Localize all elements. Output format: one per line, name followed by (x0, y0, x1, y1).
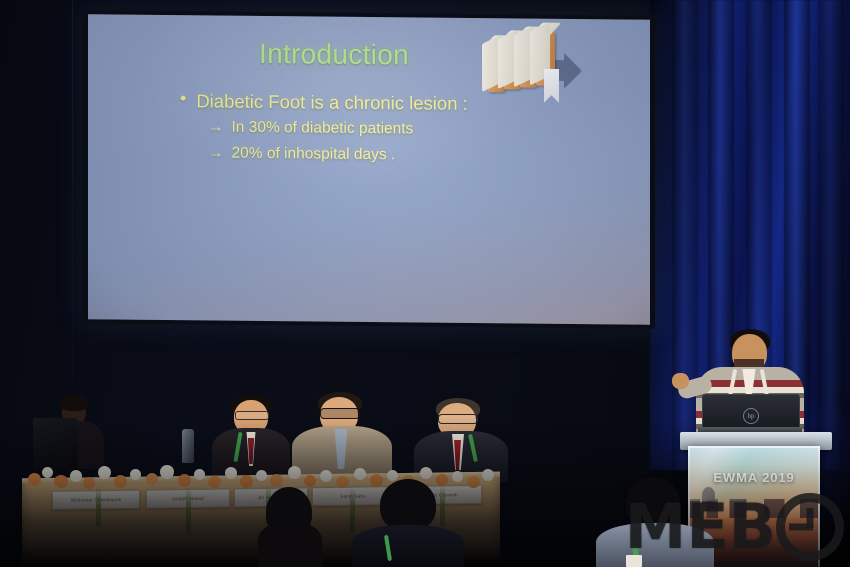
conference-photo: Introduction (0, 0, 850, 567)
bookmark-icon (544, 69, 559, 103)
watermark-b: B (729, 502, 774, 553)
laptop: hp (698, 394, 802, 436)
projection-screen-frame: Introduction (83, 10, 655, 328)
arrow-icon: → (208, 144, 224, 165)
slide-body: • Diabetic Foot is a chronic lesion : → … (180, 89, 468, 167)
watermark-e: E (686, 502, 726, 553)
projection-screen: Introduction (88, 14, 650, 324)
books-icon (486, 24, 578, 109)
bullet-item: • Diabetic Foot is a chronic lesion : (180, 89, 468, 115)
audience-hair (258, 523, 322, 567)
bullet-text: 20% of inhospital days . (232, 144, 396, 166)
bullet-marker-icon: • (180, 89, 186, 109)
mebo-watermark: M E B (625, 493, 844, 561)
hp-logo-icon: hp (743, 408, 759, 424)
bullet-text: Diabetic Foot is a chronic lesion : (196, 89, 467, 115)
bullet-item: → In 30% of diabetic patients (208, 118, 468, 141)
watermark-o-icon (776, 493, 844, 561)
arrow-icon: → (208, 118, 224, 139)
laptop-lid: hp (702, 394, 800, 430)
gesturing-hand (672, 373, 689, 389)
bullet-text: In 30% of diabetic patients (232, 118, 414, 141)
bullet-item: → 20% of inhospital days . (208, 144, 468, 167)
watermark-m: M (625, 502, 685, 553)
audience-2 (352, 481, 464, 567)
audience-1 (252, 489, 328, 567)
